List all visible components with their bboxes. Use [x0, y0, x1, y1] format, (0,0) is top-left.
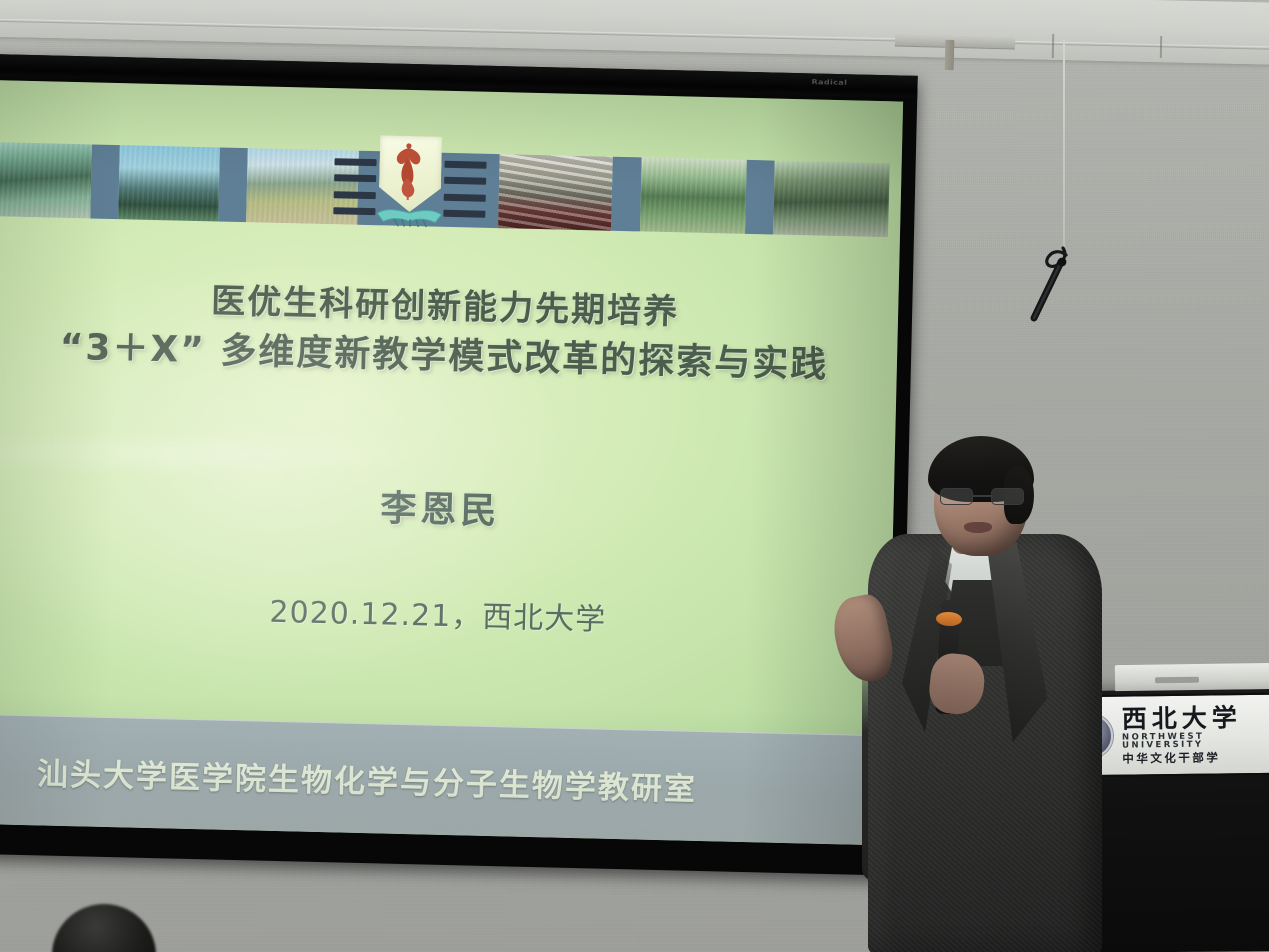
banner-photo: [118, 145, 220, 221]
banner-separator: [218, 147, 248, 222]
slide-speaker-name: 李恩民: [0, 470, 894, 543]
screen-brand-label: Radical: [811, 78, 847, 86]
hanging-microphone-icon: [1022, 246, 1080, 324]
presentation-slide: 医优生科研创新能力先期培养 “3＋X” 多维度新教学模式改革的探索与实践 李恩民…: [0, 80, 903, 845]
screen-surface: 医优生科研创新能力先期培养 “3＋X” 多维度新教学模式改革的探索与实践 李恩民…: [0, 80, 903, 845]
banner-photo: [498, 154, 613, 231]
slide-date-location: 2020.12.21，西北大学: [0, 580, 891, 645]
banner-photo: [640, 157, 747, 233]
crest-right-bars: [443, 161, 486, 218]
presenter: [836, 430, 1136, 952]
crest-left-bars: [333, 158, 376, 215]
slide-title: 医优生科研创新能力先期培养 “3＋X” 多维度新教学模式改革的探索与实践: [0, 275, 899, 390]
lectern-plate-name-en: NORTHWEST UNIVERSITY: [1122, 731, 1269, 750]
lectern-plate-text: 西北大学 NORTHWEST UNIVERSITY 中华文化干部学: [1122, 704, 1269, 764]
banner-separator: [611, 157, 641, 232]
microphone-cable: [1063, 40, 1065, 248]
lectern-top-notch: [1155, 677, 1199, 684]
slide-footer-text: 汕头大学医学院生物化学与分子生物学教研室: [37, 748, 698, 809]
presenter-mouth: [964, 522, 992, 533]
lecture-hall-scene: Radical: [0, 0, 1269, 952]
presenter-glasses-icon: [940, 488, 1024, 507]
lectern-plate-name-cn: 西北大学: [1122, 704, 1269, 731]
crest-block: [339, 132, 481, 235]
slide-banner: [0, 124, 902, 245]
banner-photo: [773, 161, 890, 238]
banner-separator: [90, 144, 120, 219]
banner-photo: [0, 142, 92, 218]
projection-screen: Radical: [0, 54, 918, 876]
banner-separator: [745, 160, 775, 235]
lectern-plate-subtitle: 中华文化干部学: [1122, 751, 1269, 764]
slide-footer-band: 汕头大学医学院生物化学与分子生物学教研室: [0, 714, 888, 845]
shantou-university-crest-icon: [372, 135, 448, 233]
screen-mount-bracket: [945, 40, 955, 70]
